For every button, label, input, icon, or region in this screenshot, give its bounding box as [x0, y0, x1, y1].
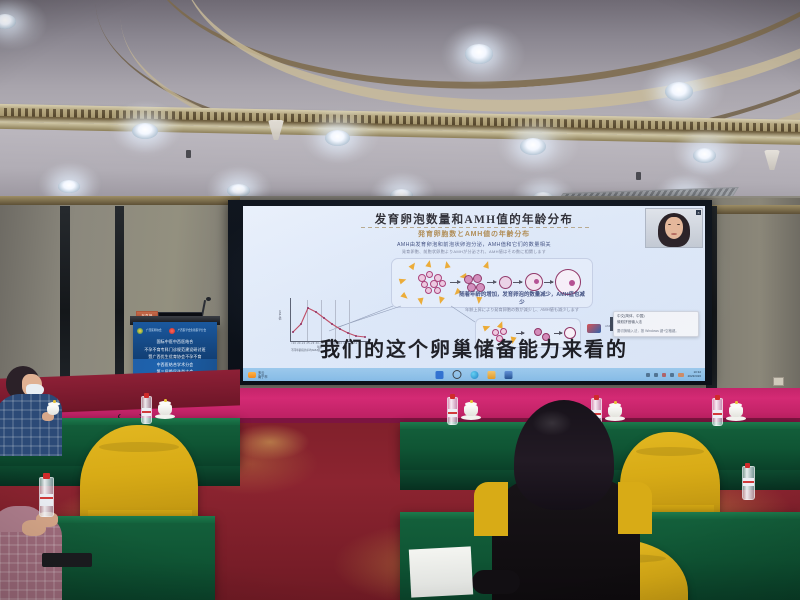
org-right-label: 广西医学会生殖医学分会	[178, 329, 207, 332]
ceiling-downlight	[665, 82, 693, 101]
file-explorer-icon[interactable]	[488, 371, 496, 379]
clock-date: 2023/3/26	[688, 375, 701, 379]
chair-behind-shoulder-right	[618, 482, 652, 534]
ime-method-label: 微软拼音输入法	[617, 320, 695, 326]
orange-arrow-icon	[437, 296, 445, 304]
presenter-webcam-pip[interactable]: ×	[645, 208, 703, 248]
presenter-face	[665, 217, 683, 239]
ime-language-popup[interactable]: 中文(简体，中国) 微软拼音输入法 要切换输入法，按 Windows 键+空格键…	[613, 311, 699, 337]
oocyte	[534, 279, 539, 284]
ceiling-downlight	[465, 44, 493, 64]
water-bottle	[742, 466, 755, 500]
diagram-arrow-icon	[513, 282, 522, 283]
taskbar-app-icons[interactable]	[436, 370, 513, 379]
ceiling-downlight	[132, 123, 158, 139]
ceiling-downlight	[325, 130, 350, 146]
notepad	[409, 546, 473, 597]
orange-arrow-icon	[443, 260, 450, 268]
follicle-cell	[476, 283, 485, 292]
projection-screen[interactable]: 发育卵泡数量和AMH值的年龄分布 発育卵胞数とAMH値の年齢分布 AMH由发育卵…	[243, 206, 705, 381]
org-left-label: 广西医师协会	[146, 329, 162, 332]
orange-arrow-icon	[483, 323, 492, 331]
follicle-cell	[425, 287, 432, 294]
podium-line-1: 国际中医中西医结合	[137, 338, 213, 346]
water-bottle	[712, 398, 723, 426]
orange-arrow-icon	[483, 260, 491, 269]
taskbar-system-tray[interactable]: 10:32 2023/3/26	[646, 371, 701, 378]
follicle-cell	[434, 287, 441, 294]
tablet-device	[42, 553, 92, 567]
lidded-teacup	[47, 405, 59, 415]
taskbar-clock[interactable]: 10:32 2023/3/26	[688, 371, 701, 378]
follicle-cell	[426, 271, 433, 278]
orange-arrow-icon	[425, 259, 432, 267]
ime-hint-label: 要切换输入法，按 Windows 键+空格键。	[617, 329, 695, 334]
ceiling-downlight	[520, 138, 546, 155]
microphone-head	[206, 297, 211, 301]
slide-subtitle-japanese: 発育卵胞数とAMH値の年齢分布	[243, 229, 705, 239]
diagram-arrow-icon	[544, 282, 553, 283]
battery-icon[interactable]	[670, 373, 674, 377]
ime-caret-icon	[610, 317, 613, 331]
chair-behind-shoulder-left	[474, 482, 508, 536]
water-bottle	[141, 396, 152, 424]
ceiling-downlight	[693, 148, 716, 163]
presenter-mouth	[671, 233, 677, 235]
partition-seam	[115, 206, 124, 398]
meeting-app-icon[interactable]	[505, 371, 513, 379]
podium-org-logos: 广西医师协会 广西医学会生殖医学分会	[137, 327, 213, 335]
slide-body-chinese: AMH由发育卵泡和前泡状卵泡分泌，AMH值和它们的数量相关	[243, 241, 705, 248]
lidded-teacup	[464, 405, 478, 416]
attendee-arm	[472, 570, 520, 594]
ceiling-sensor	[186, 150, 191, 158]
ceiling-sensor	[636, 172, 641, 180]
slide-callout-chinese: 随着年龄的增加，发育卵泡的数量减少，AMH值也减少	[457, 292, 587, 308]
slide-callout-japanese: 年齢上昇により発育卵胞の数が減少し、AMH値も減少します	[457, 307, 587, 313]
lidded-teacup	[158, 404, 172, 415]
podium-line-2: 不孕不育专科门诊规范建设研讨班	[137, 346, 213, 354]
close-icon[interactable]: ×	[696, 210, 701, 215]
orange-arrow-icon	[399, 277, 408, 285]
title-underline	[361, 227, 591, 228]
weather-city: 南宁市	[258, 375, 268, 379]
weather-icon	[248, 372, 256, 378]
hair-highlight	[532, 410, 572, 436]
wall-outlet	[773, 377, 784, 386]
ime-indicator-icon[interactable]	[678, 373, 684, 377]
chart-y-label: AMH值	[278, 310, 282, 320]
follicle-cell	[467, 283, 476, 292]
edge-icon[interactable]	[471, 371, 479, 379]
wall-trim	[0, 196, 240, 205]
attendee-center	[478, 400, 646, 600]
ceiling-downlight	[58, 180, 80, 193]
taskbar-weather-widget[interactable]: 多云 南宁市	[248, 371, 268, 379]
orange-arrow-icon	[409, 261, 418, 270]
windows-taskbar[interactable]: 多云 南宁市 10:32 2023/3/26	[243, 368, 705, 381]
diagram-arrow-icon	[487, 282, 496, 283]
presentation-slide: 发育卵泡数量和AMH值的年龄分布 発育卵胞数とAMH値の年齢分布 AMH由发育卵…	[243, 206, 705, 368]
slide-big-caption: 我们的这个卵巢储备能力来看的	[243, 334, 705, 364]
org-logo-left-icon	[137, 328, 143, 334]
orange-arrow-icon	[418, 298, 425, 306]
chevron-up-icon[interactable]	[646, 373, 650, 377]
task-view-icon[interactable]	[436, 371, 444, 379]
network-icon[interactable]	[654, 373, 658, 377]
podium-line-4: 中西医结合学术分会	[137, 361, 213, 369]
podium-line-3: 暨广西优生优育协会不孕不育	[137, 353, 213, 361]
attendee-left-back	[0, 366, 72, 456]
orange-arrow-icon	[400, 292, 409, 301]
slide-body-japanese: 発育卵胞、前胞状卵胞よりAMHが分泌され、AMH値はその数に相関します	[243, 249, 705, 255]
org-logo-right-icon	[169, 328, 175, 334]
diagram-arrow-icon	[450, 282, 460, 283]
follicle-cell	[439, 280, 446, 287]
search-icon[interactable]	[453, 370, 462, 379]
lidded-teacup	[729, 406, 743, 417]
follicle-cell	[473, 274, 482, 283]
conference-hall-photo: 发育卵泡数量和AMH值的年龄分布 発育卵胞数とAMH値の年齢分布 AMH由发育卵…	[0, 0, 800, 600]
brand-logo	[587, 324, 601, 333]
water-bottle	[447, 397, 458, 425]
antral-follicle	[499, 276, 512, 289]
volume-icon[interactable]	[662, 373, 666, 377]
attendee-left-front	[0, 490, 72, 600]
water-bottle	[39, 477, 54, 517]
oocyte	[569, 280, 575, 286]
slide-title: 发育卵泡数量和AMH值的年龄分布	[243, 211, 705, 227]
